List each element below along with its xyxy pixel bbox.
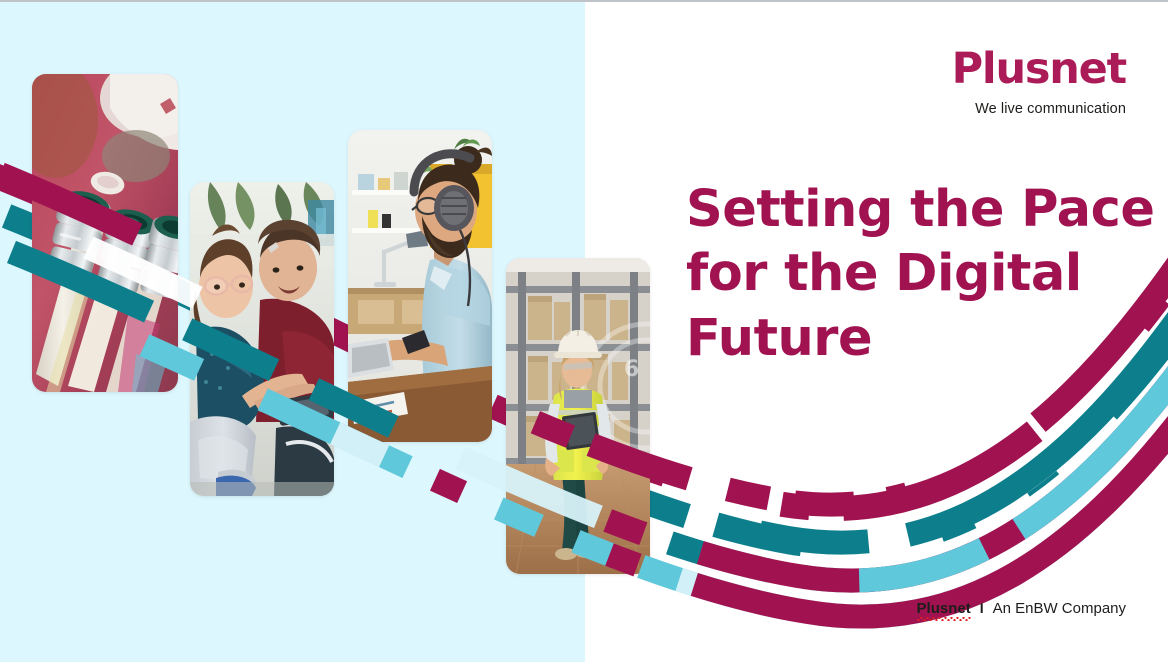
brand-wordmark: Plusnet bbox=[952, 48, 1126, 91]
brand-tagline: We live communication bbox=[952, 102, 1126, 117]
svg-text:6: 6 bbox=[624, 357, 639, 382]
photo-card-couple-tablet bbox=[190, 182, 334, 496]
footer-separator: I bbox=[980, 600, 984, 616]
footer-brand: Plusnet bbox=[917, 600, 971, 619]
slide-footer: Plusnet I An EnBW Company bbox=[917, 600, 1126, 619]
photo-man-headphones bbox=[348, 130, 492, 442]
photo-card-fibre-connectors bbox=[32, 74, 178, 392]
photo-card-man-headphones bbox=[348, 130, 492, 442]
footer-company-text: An EnBW Company bbox=[993, 600, 1126, 617]
photo-fibre-connectors bbox=[32, 74, 178, 392]
presentation-slide: 6 bbox=[0, 0, 1168, 662]
photo-couple-tablet bbox=[190, 182, 334, 496]
slide-headline: Setting the Pace for the Digital Future bbox=[686, 178, 1126, 371]
photo-card-warehouse-worker: 6 bbox=[506, 258, 650, 574]
brand-logo: Plusnet We live communication bbox=[952, 48, 1126, 117]
photo-warehouse-worker: 6 bbox=[506, 258, 650, 574]
headline-line-3: Future bbox=[686, 307, 1126, 371]
headline-line-2: for the Digital bbox=[686, 242, 1126, 306]
headline-line-1: Setting the Pace bbox=[686, 178, 1126, 242]
